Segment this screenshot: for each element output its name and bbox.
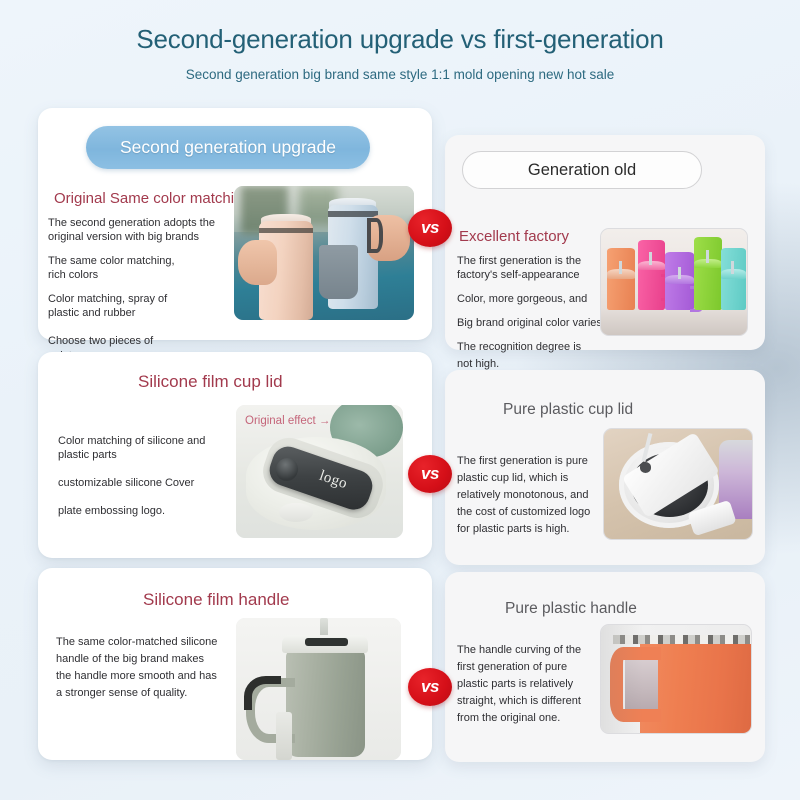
row1-old-heading: Excellent factory <box>459 228 569 245</box>
text-line: Big brand original color varies <box>457 315 617 332</box>
row3-new-card: Silicone film handle The same color-matc… <box>38 568 432 760</box>
text-line: plastic cup lid, which is <box>457 470 609 487</box>
text-line: The handle curving of the <box>457 642 607 659</box>
row2-new-card: Silicone film cup lid Color matching of … <box>38 352 432 558</box>
row3-old-heading: Pure plastic handle <box>505 600 637 618</box>
text-line: customizable silicone Cover <box>58 476 253 490</box>
text-line: plate embossing logo. <box>58 504 253 518</box>
second-generation-upgrade-pill[interactable]: Second generation upgrade <box>86 126 370 169</box>
generation-old-pill[interactable]: Generation old <box>462 151 702 189</box>
row1-old-card: Generation old Excellent factory The fir… <box>445 135 765 350</box>
infographic-canvas: Second-generation upgrade vs first-gener… <box>0 0 800 800</box>
row2-old-card: Pure plastic cup lid The first generatio… <box>445 370 765 565</box>
row1-old-text: The first generation is the factory's se… <box>457 253 617 373</box>
text-line: Color matching of silicone and <box>58 434 253 448</box>
row3-old-text: The handle curving of the first generati… <box>457 642 607 727</box>
row1-new-heading: Original Same color matching <box>54 190 251 207</box>
row1-old-image <box>600 228 748 336</box>
row3-old-image <box>600 624 752 734</box>
text-line: The same color-matched silicone <box>56 634 256 651</box>
text-line: The recognition degree is <box>457 339 617 356</box>
generation-old-pill-label: Generation old <box>528 161 636 180</box>
text-line: handle of the big brand makes <box>56 651 256 668</box>
row3-new-text: The same color-matched silicone handle o… <box>56 634 256 702</box>
vs-label: vs <box>421 464 439 484</box>
text-line: relatively monotonous, and <box>457 487 609 504</box>
row3-new-heading: Silicone film handle <box>143 590 289 610</box>
row2-vs-badge: vs <box>408 455 452 493</box>
text-line: rich colors <box>48 268 238 282</box>
original-effect-label: Original effect → <box>245 415 330 427</box>
text-line: Color matching, spray of <box>48 292 238 306</box>
row1-new-image <box>234 186 414 320</box>
row1-new-card: Second generation upgrade Original Same … <box>38 108 432 340</box>
row2-old-image <box>603 428 753 540</box>
text-line: The first generation is pure <box>457 453 609 470</box>
text-line: The same color matching, <box>48 254 238 268</box>
row3-vs-badge: vs <box>408 668 452 706</box>
text-line: Choose two pieces of <box>48 334 238 348</box>
text-line: for plastic parts is high. <box>457 521 609 538</box>
row2-new-text: Color matching of silicone and plastic p… <box>58 434 253 518</box>
text-line: the handle more smooth and has <box>56 668 256 685</box>
page-subtitle: Second generation big brand same style 1… <box>0 67 800 82</box>
text-line: The second generation adopts the <box>48 216 238 230</box>
text-line: original version with big brands <box>48 230 238 244</box>
text-line: plastic parts is relatively <box>457 676 607 693</box>
header: Second-generation upgrade vs first-gener… <box>0 24 800 82</box>
row2-old-text: The first generation is pure plastic cup… <box>457 453 609 538</box>
row2-new-heading: Silicone film cup lid <box>138 372 283 392</box>
text-line: plastic and rubber <box>48 306 238 320</box>
text-line: the cost of customized logo <box>457 504 609 521</box>
text-line: straight, which is different <box>457 693 607 710</box>
row3-new-image <box>236 618 401 760</box>
text-line: plastic parts <box>58 448 253 462</box>
page-title: Second-generation upgrade vs first-gener… <box>0 24 800 55</box>
row3-old-card: Pure plastic handle The handle curving o… <box>445 572 765 762</box>
row2-old-heading: Pure plastic cup lid <box>503 401 633 419</box>
vs-label: vs <box>421 218 439 238</box>
row1-new-text: The second generation adopts the origina… <box>48 216 238 363</box>
vs-label: vs <box>421 677 439 697</box>
text-line: Color, more gorgeous, and <box>457 291 617 308</box>
text-line: from the original one. <box>457 710 607 727</box>
text-line: a stronger sense of quality. <box>56 685 256 702</box>
second-generation-upgrade-pill-label: Second generation upgrade <box>120 137 336 158</box>
text-line: factory's self-appearance <box>457 267 617 284</box>
text-line: first generation of pure <box>457 659 607 676</box>
row1-vs-badge: vs <box>408 209 452 247</box>
